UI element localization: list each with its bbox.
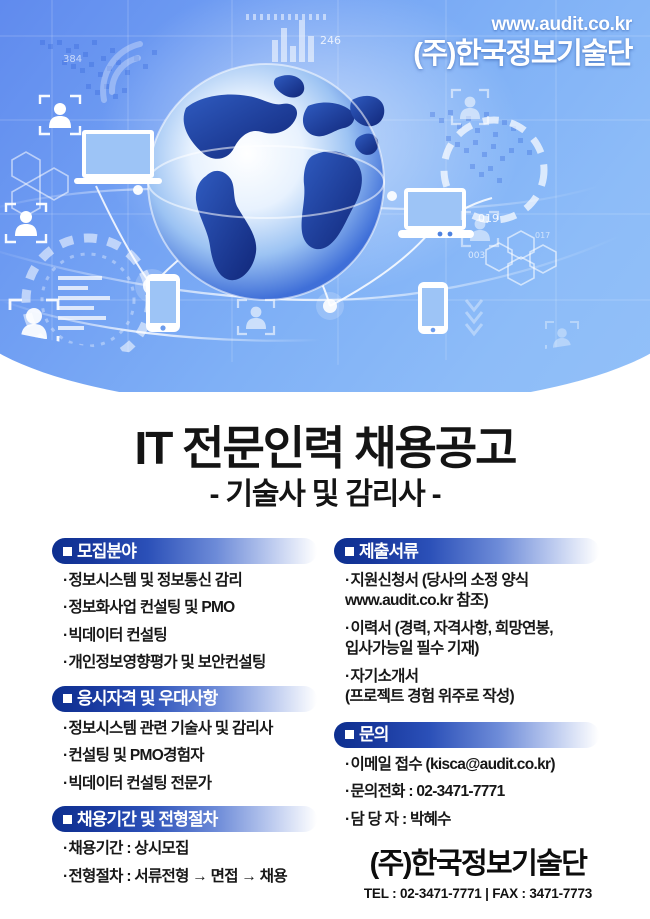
section-header-label: 제출서류 bbox=[345, 543, 418, 560]
banner-hero: 246 384 bbox=[0, 0, 650, 392]
smartphone-icon bbox=[418, 282, 448, 334]
list-item: 정보화사업 컨설팅 및 PMO bbox=[63, 598, 330, 618]
square-bullet-icon bbox=[63, 547, 72, 556]
footer-contact-line: TEL : 02-3471-7771 | FAX : 3471-7773 bbox=[328, 886, 628, 901]
recruitment-poster: 246 384 bbox=[0, 0, 650, 919]
section-qualifications: 응시자격 및 우대사항 정보시스템 관련 기술사 및 감리사 컨설팅 및 PMO… bbox=[52, 686, 330, 794]
content-columns: 모집분야 정보시스템 및 정보통신 감리 정보화사업 컨설팅 및 PMO 빅데이… bbox=[0, 538, 650, 848]
svg-text:017: 017 bbox=[535, 231, 550, 240]
section-header-label: 문의 bbox=[345, 726, 388, 743]
section-body-period-and-process: 채용기간 : 상시모집 전형절차 : 서류전형 → 면접 → 채용 bbox=[52, 832, 330, 887]
section-header-inquiry: 문의 bbox=[334, 722, 599, 748]
footer-block: (주)한국정보기술단 TEL : 02-3471-7771 | FAX : 34… bbox=[328, 848, 628, 901]
square-bullet-icon bbox=[345, 730, 354, 739]
list-item: 자기소개서 (프로젝트 경험 위주로 작성) bbox=[345, 667, 612, 708]
list-item: 지원신청서 (당사의 소정 양식 www.audit.co.kr 참조) bbox=[345, 571, 612, 612]
svg-text:003: 003 bbox=[468, 251, 485, 261]
section-required-documents: 제출서류 지원신청서 (당사의 소정 양식 www.audit.co.kr 참조… bbox=[334, 538, 612, 708]
section-header-required-documents: 제출서류 bbox=[334, 538, 599, 564]
section-body-recruitment-fields: 정보시스템 및 정보통신 감리 정보화사업 컨설팅 및 PMO 빅데이터 컨설팅… bbox=[52, 564, 330, 674]
list-item: 채용기간 : 상시모집 bbox=[63, 839, 330, 859]
section-header-period-and-process: 채용기간 및 전형절차 bbox=[52, 806, 317, 832]
chevron-arrows bbox=[466, 300, 482, 334]
section-inquiry: 문의 이메일 접수 (kisca@audit.co.kr) 문의전화 : 02-… bbox=[334, 722, 612, 830]
brand-block: www.audit.co.kr (주)한국정보기술단 bbox=[413, 14, 632, 72]
section-body-inquiry: 이메일 접수 (kisca@audit.co.kr) 문의전화 : 02-347… bbox=[334, 748, 612, 830]
hexagon-icon bbox=[12, 152, 68, 216]
laptop-icon bbox=[74, 130, 162, 184]
list-item: 정보시스템 및 정보통신 감리 bbox=[63, 571, 330, 591]
page-title: IT 전문인력 채용공고 bbox=[0, 424, 650, 472]
footer-company-name: (주)한국정보기술단 bbox=[328, 848, 628, 881]
section-recruitment-fields: 모집분야 정보시스템 및 정보통신 감리 정보화사업 컨설팅 및 PMO 빅데이… bbox=[52, 538, 330, 674]
section-period-and-process: 채용기간 및 전형절차 채용기간 : 상시모집 전형절차 : 서류전형 → 면접… bbox=[52, 806, 330, 887]
list-item: 담 당 자 : 박혜수 bbox=[345, 810, 612, 830]
left-column: 모집분야 정보시스템 및 정보통신 감리 정보화사업 컨설팅 및 PMO 빅데이… bbox=[52, 538, 330, 894]
right-column: 제출서류 지원신청서 (당사의 소정 양식 www.audit.co.kr 참조… bbox=[334, 538, 612, 837]
list-item: 빅데이터 컨설팅 전문가 bbox=[63, 774, 330, 794]
section-header-label: 응시자격 및 우대사항 bbox=[63, 690, 217, 707]
page-subtitle: - 기술사 및 감리사 - bbox=[0, 478, 650, 511]
section-header-label: 모집분야 bbox=[63, 543, 136, 560]
smartphone-icon bbox=[146, 274, 180, 332]
section-header-recruitment-fields: 모집분야 bbox=[52, 538, 317, 564]
brand-name: (주)한국정보기술단 bbox=[413, 37, 632, 72]
list-item: 빅데이터 컨설팅 bbox=[63, 626, 330, 646]
list-item: 정보시스템 관련 기술사 및 감리사 bbox=[63, 719, 330, 739]
square-bullet-icon bbox=[345, 547, 354, 556]
list-item: 컨설팅 및 PMO경험자 bbox=[63, 746, 330, 766]
section-body-required-documents: 지원신청서 (당사의 소정 양식 www.audit.co.kr 참조) 이력서… bbox=[334, 564, 612, 708]
square-bullet-icon bbox=[63, 694, 72, 703]
section-body-qualifications: 정보시스템 관련 기술사 및 감리사 컨설팅 및 PMO경험자 빅데이터 컨설팅… bbox=[52, 712, 330, 794]
list-item: 문의전화 : 02-3471-7771 bbox=[345, 782, 612, 802]
left-code-label: 384 bbox=[63, 54, 82, 65]
list-item[interactable]: 이메일 접수 (kisca@audit.co.kr) bbox=[345, 755, 612, 775]
globe-icon bbox=[148, 64, 384, 300]
svg-text:246: 246 bbox=[320, 34, 341, 47]
square-bullet-icon bbox=[63, 815, 72, 824]
list-item: 전형절차 : 서류전형 → 면접 → 채용 bbox=[63, 867, 330, 887]
section-header-qualifications: 응시자격 및 우대사항 bbox=[52, 686, 317, 712]
list-item: 개인정보영향평가 및 보안컨설팅 bbox=[63, 653, 330, 673]
section-header-label: 채용기간 및 전형절차 bbox=[63, 811, 217, 828]
title-area: IT 전문인력 채용공고 - 기술사 및 감리사 - bbox=[0, 424, 650, 511]
bar-chart-icon: 246 bbox=[272, 20, 341, 62]
list-item: 이력서 (경력, 자격사항, 희망연봉, 입사가능일 필수 기재) bbox=[345, 619, 612, 660]
brand-url[interactable]: www.audit.co.kr bbox=[413, 14, 632, 36]
